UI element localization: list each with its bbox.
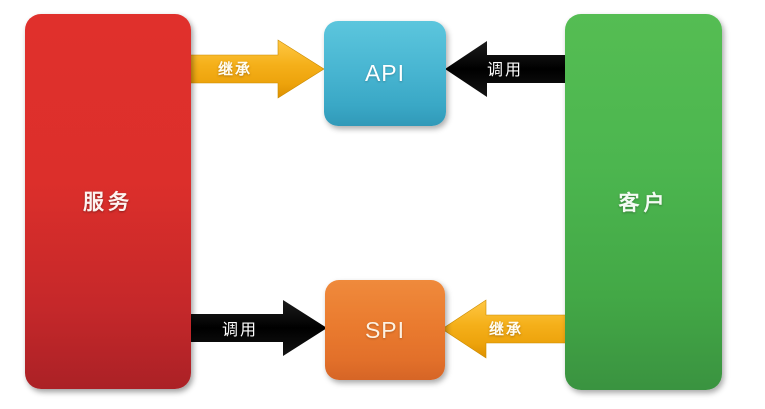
node-api[interactable]: API <box>324 21 446 126</box>
node-client[interactable]: 客户 <box>565 14 722 390</box>
arrow-client-to-api-icon <box>445 41 569 97</box>
node-spi[interactable]: SPI <box>325 280 445 380</box>
arrow-service-to-spi-icon <box>187 300 327 356</box>
arrow-service-to-api-icon <box>188 40 324 98</box>
arrow-client-to-spi-icon <box>442 300 568 358</box>
node-api-label: API <box>365 62 405 85</box>
node-client-label: 客户 <box>619 192 669 213</box>
node-service[interactable]: 服务 <box>25 14 191 389</box>
node-spi-label: SPI <box>365 319 405 342</box>
node-service-label: 服务 <box>83 191 133 212</box>
diagram-canvas: 服务 API SPI 客户 继承 <box>0 0 765 409</box>
